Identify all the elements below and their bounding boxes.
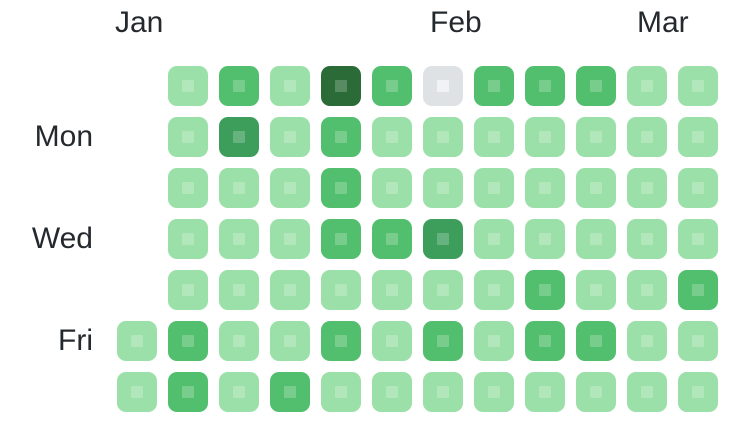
day-cell[interactable] [321,66,361,106]
day-cell-marker [641,386,653,398]
day-cell[interactable] [576,372,616,412]
day-cell[interactable] [678,270,718,310]
day-cell-marker [437,335,449,347]
day-cell-marker [182,284,194,296]
day-cell[interactable] [321,117,361,157]
day-cell-marker [641,182,653,194]
day-cell-marker [335,131,347,143]
day-cell[interactable] [474,321,514,361]
day-cell-marker [335,386,347,398]
day-cell[interactable] [270,321,310,361]
day-cell-marker [233,131,245,143]
day-cell-marker [590,80,602,92]
heatmap-grid [0,0,733,429]
day-cell-marker [335,335,347,347]
day-cell[interactable] [219,372,259,412]
day-cell[interactable] [168,117,208,157]
day-cell-marker [182,80,194,92]
day-cell-marker [539,131,551,143]
day-cell-marker [488,386,500,398]
day-cell-marker [488,131,500,143]
day-cell[interactable] [474,168,514,208]
day-cell[interactable] [576,219,616,259]
day-cell[interactable] [168,372,208,412]
day-cell[interactable] [423,372,463,412]
day-cell[interactable] [423,321,463,361]
day-cell[interactable] [423,168,463,208]
day-cell-marker [335,182,347,194]
day-cell-marker [488,335,500,347]
day-cell[interactable] [321,321,361,361]
day-cell-marker [131,335,143,347]
day-cell[interactable] [423,66,463,106]
day-cell[interactable] [219,66,259,106]
day-cell-marker [335,80,347,92]
day-cell[interactable] [525,66,565,106]
day-cell[interactable] [525,321,565,361]
day-cell-marker [488,80,500,92]
day-cell-marker [233,284,245,296]
day-cell[interactable] [474,219,514,259]
day-cell[interactable] [474,270,514,310]
day-cell[interactable] [627,219,667,259]
day-cell-marker [284,131,296,143]
day-cell-marker [539,233,551,245]
day-cell[interactable] [525,219,565,259]
day-cell-marker [386,335,398,347]
day-cell[interactable] [372,321,412,361]
day-cell-marker [539,80,551,92]
day-cell-marker [539,284,551,296]
day-cell-marker [641,284,653,296]
day-cell-marker [386,80,398,92]
day-cell-marker [182,182,194,194]
day-cell-marker [692,233,704,245]
day-cell[interactable] [576,270,616,310]
day-cell-marker [590,335,602,347]
day-cell[interactable] [270,66,310,106]
day-cell-marker [182,335,194,347]
day-cell-marker [131,386,143,398]
day-cell[interactable] [168,66,208,106]
day-cell-marker [284,182,296,194]
day-cell-marker [692,80,704,92]
day-cell[interactable] [576,66,616,106]
day-cell-marker [386,233,398,245]
day-cell[interactable] [627,168,667,208]
day-cell-marker [488,233,500,245]
day-cell[interactable] [117,372,157,412]
day-cell-marker [182,386,194,398]
day-cell[interactable] [372,219,412,259]
day-cell-marker [182,131,194,143]
day-cell[interactable] [219,168,259,208]
day-cell-marker [692,131,704,143]
day-cell[interactable] [168,270,208,310]
day-cell[interactable] [270,117,310,157]
day-cell-marker [641,80,653,92]
day-cell-marker [539,335,551,347]
day-cell[interactable] [576,321,616,361]
day-cell-marker [437,182,449,194]
day-cell-marker [488,284,500,296]
day-cell[interactable] [372,168,412,208]
day-cell-marker [335,233,347,245]
day-cell[interactable] [321,219,361,259]
day-cell-marker [284,233,296,245]
day-cell-marker [692,386,704,398]
day-cell-marker [233,233,245,245]
day-cell-marker [335,284,347,296]
day-cell-marker [386,386,398,398]
day-cell[interactable] [678,372,718,412]
day-cell[interactable] [423,117,463,157]
day-cell-marker [692,182,704,194]
day-cell-marker [233,80,245,92]
day-cell[interactable] [525,117,565,157]
day-cell-marker [590,131,602,143]
day-cell-marker [437,131,449,143]
day-cell[interactable] [627,321,667,361]
day-cell[interactable] [372,270,412,310]
day-cell[interactable] [168,321,208,361]
day-cell[interactable] [321,270,361,310]
day-cell[interactable] [576,117,616,157]
day-cell-marker [590,386,602,398]
day-cell[interactable] [372,372,412,412]
contribution-heatmap: JanFebMar MonWedFri [0,0,733,429]
day-cell[interactable] [474,117,514,157]
day-cell[interactable] [678,219,718,259]
day-cell[interactable] [372,66,412,106]
day-cell[interactable] [270,270,310,310]
day-cell[interactable] [576,168,616,208]
day-cell-marker [437,284,449,296]
day-cell-marker [590,182,602,194]
day-cell-marker [539,182,551,194]
day-cell[interactable] [219,219,259,259]
day-cell[interactable] [270,168,310,208]
day-cell[interactable] [474,372,514,412]
day-cell-marker [284,335,296,347]
day-cell-marker [386,182,398,194]
day-cell[interactable] [270,372,310,412]
day-cell[interactable] [627,372,667,412]
day-cell-marker [641,131,653,143]
day-cell[interactable] [168,219,208,259]
day-cell-marker [437,386,449,398]
day-cell[interactable] [678,321,718,361]
day-cell[interactable] [525,270,565,310]
day-cell[interactable] [627,117,667,157]
day-cell[interactable] [219,270,259,310]
day-cell-marker [182,233,194,245]
day-cell-marker [233,386,245,398]
day-cell[interactable] [219,321,259,361]
day-cell-marker [590,233,602,245]
day-cell[interactable] [627,66,667,106]
day-cell[interactable] [117,321,157,361]
day-cell-marker [386,131,398,143]
day-cell-marker [641,233,653,245]
day-cell[interactable] [525,168,565,208]
day-cell[interactable] [321,168,361,208]
day-cell[interactable] [321,372,361,412]
day-cell-marker [692,284,704,296]
day-cell-marker [233,335,245,347]
day-cell-marker [437,80,449,92]
day-cell-marker [692,335,704,347]
day-cell-marker [437,233,449,245]
day-cell[interactable] [423,270,463,310]
day-cell[interactable] [678,168,718,208]
day-cell[interactable] [372,117,412,157]
day-cell-marker [488,182,500,194]
day-cell-marker [284,284,296,296]
day-cell[interactable] [219,117,259,157]
day-cell-marker [386,284,398,296]
day-cell-marker [284,80,296,92]
day-cell-marker [284,386,296,398]
day-cell[interactable] [423,219,463,259]
day-cell[interactable] [678,66,718,106]
day-cell[interactable] [168,168,208,208]
day-cell[interactable] [474,66,514,106]
day-cell-marker [641,335,653,347]
day-cell[interactable] [678,117,718,157]
day-cell[interactable] [525,372,565,412]
day-cell[interactable] [270,219,310,259]
day-cell-marker [233,182,245,194]
day-cell-marker [590,284,602,296]
day-cell-marker [539,386,551,398]
day-cell[interactable] [627,270,667,310]
